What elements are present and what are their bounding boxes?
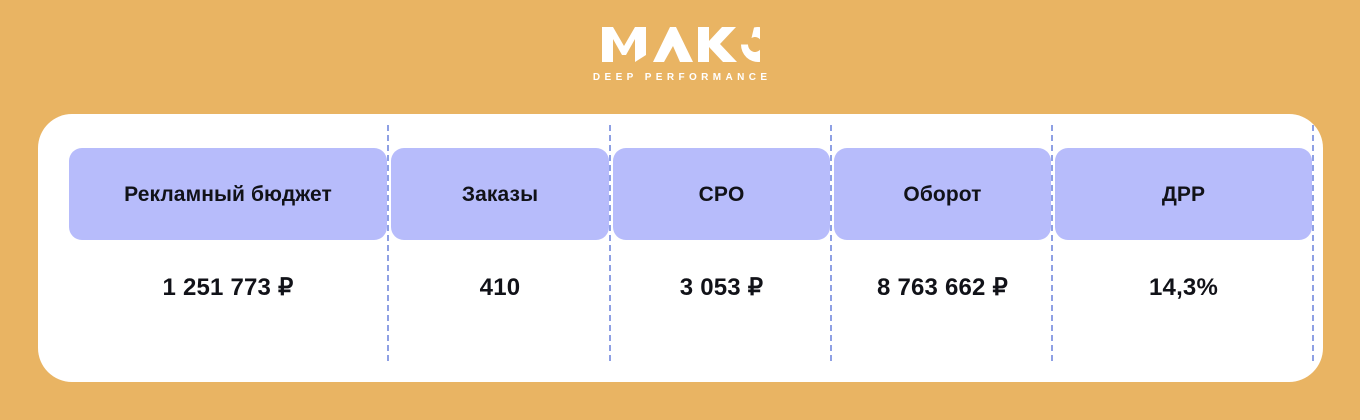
metrics-row: Рекламный бюджет 1 251 773 ₽ Заказы 410 … [67, 114, 1314, 382]
metric-column: CPO 3 053 ₽ [611, 114, 832, 382]
metric-label-chip: ДРР [1055, 148, 1312, 240]
metric-label: Заказы [462, 184, 538, 205]
brand-tagline: DEEP PERFORMANCE [589, 73, 772, 83]
metric-value: 410 [480, 276, 521, 300]
metric-label: CPO [699, 184, 745, 205]
metric-value: 8 763 662 ₽ [877, 276, 1008, 300]
brand-logo: DEEP PERFORMANCE [0, 24, 1360, 83]
mako-wordmark-icon [600, 24, 760, 64]
metric-value: 14,3% [1149, 276, 1218, 300]
metric-column: ДРР 14,3% [1053, 114, 1314, 382]
metric-label: ДРР [1162, 184, 1205, 205]
metric-label-chip: Заказы [391, 148, 609, 240]
report-banner: DEEP PERFORMANCE Рекламный бюджет 1 251 … [0, 0, 1360, 420]
metric-label: Рекламный бюджет [124, 184, 332, 205]
metric-column: Заказы 410 [389, 114, 611, 382]
metric-label-chip: Оборот [834, 148, 1051, 240]
metric-column: Рекламный бюджет 1 251 773 ₽ [67, 114, 389, 382]
metric-label: Оборот [903, 184, 981, 205]
metrics-card: Рекламный бюджет 1 251 773 ₽ Заказы 410 … [38, 114, 1323, 382]
metric-value: 3 053 ₽ [680, 276, 763, 300]
metric-label-chip: CPO [613, 148, 830, 240]
metric-column: Оборот 8 763 662 ₽ [832, 114, 1053, 382]
metric-value: 1 251 773 ₽ [163, 276, 294, 300]
metric-label-chip: Рекламный бюджет [69, 148, 387, 240]
